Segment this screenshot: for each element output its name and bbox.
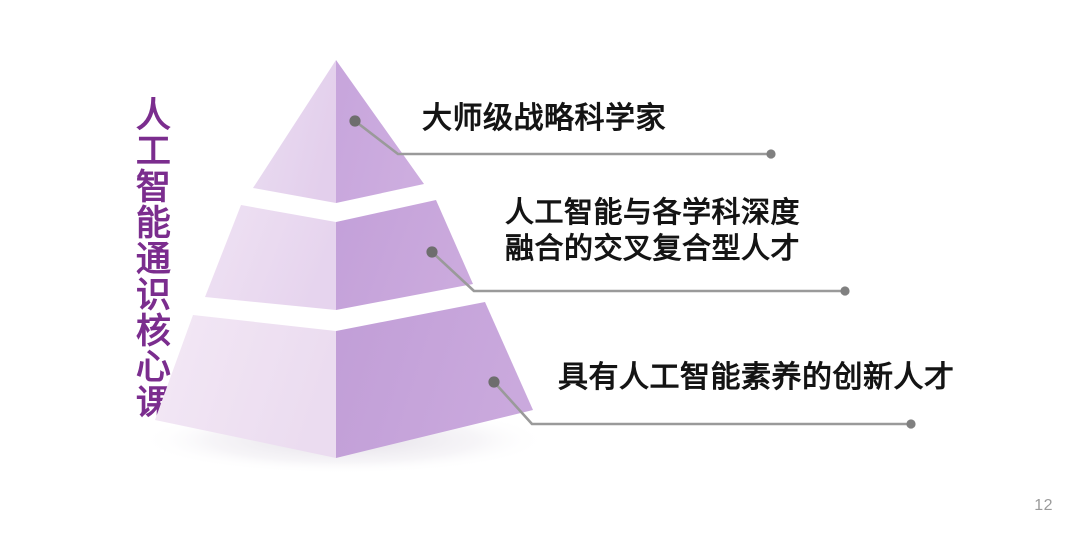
callout-1-label: 大师级战略科学家 — [422, 100, 666, 137]
callout-3-end-dot — [906, 419, 915, 428]
callout-2-start-dot — [426, 246, 437, 257]
pyramid-tier-top-left-face — [253, 60, 336, 203]
slide-canvas: 人工智能通识核心课 — [0, 0, 1080, 533]
callout-2-label: 人工智能与各学科深度 融合的交叉复合型人才 — [505, 196, 800, 268]
callout-1-end-dot — [766, 149, 775, 158]
callout-2-end-dot — [840, 286, 849, 295]
callout-3-label: 具有人工智能素养的创新人才 — [558, 359, 955, 396]
callout-3-start-dot — [488, 376, 499, 387]
pyramid-tier-middle-right-face — [336, 200, 473, 310]
pyramid-tier-top — [253, 60, 424, 203]
callout-1-start-dot — [349, 115, 360, 126]
pyramid-tier-middle-left-face — [205, 205, 336, 310]
page-number: 12 — [1034, 497, 1053, 515]
pyramid-tier-top-right-face — [336, 60, 424, 203]
